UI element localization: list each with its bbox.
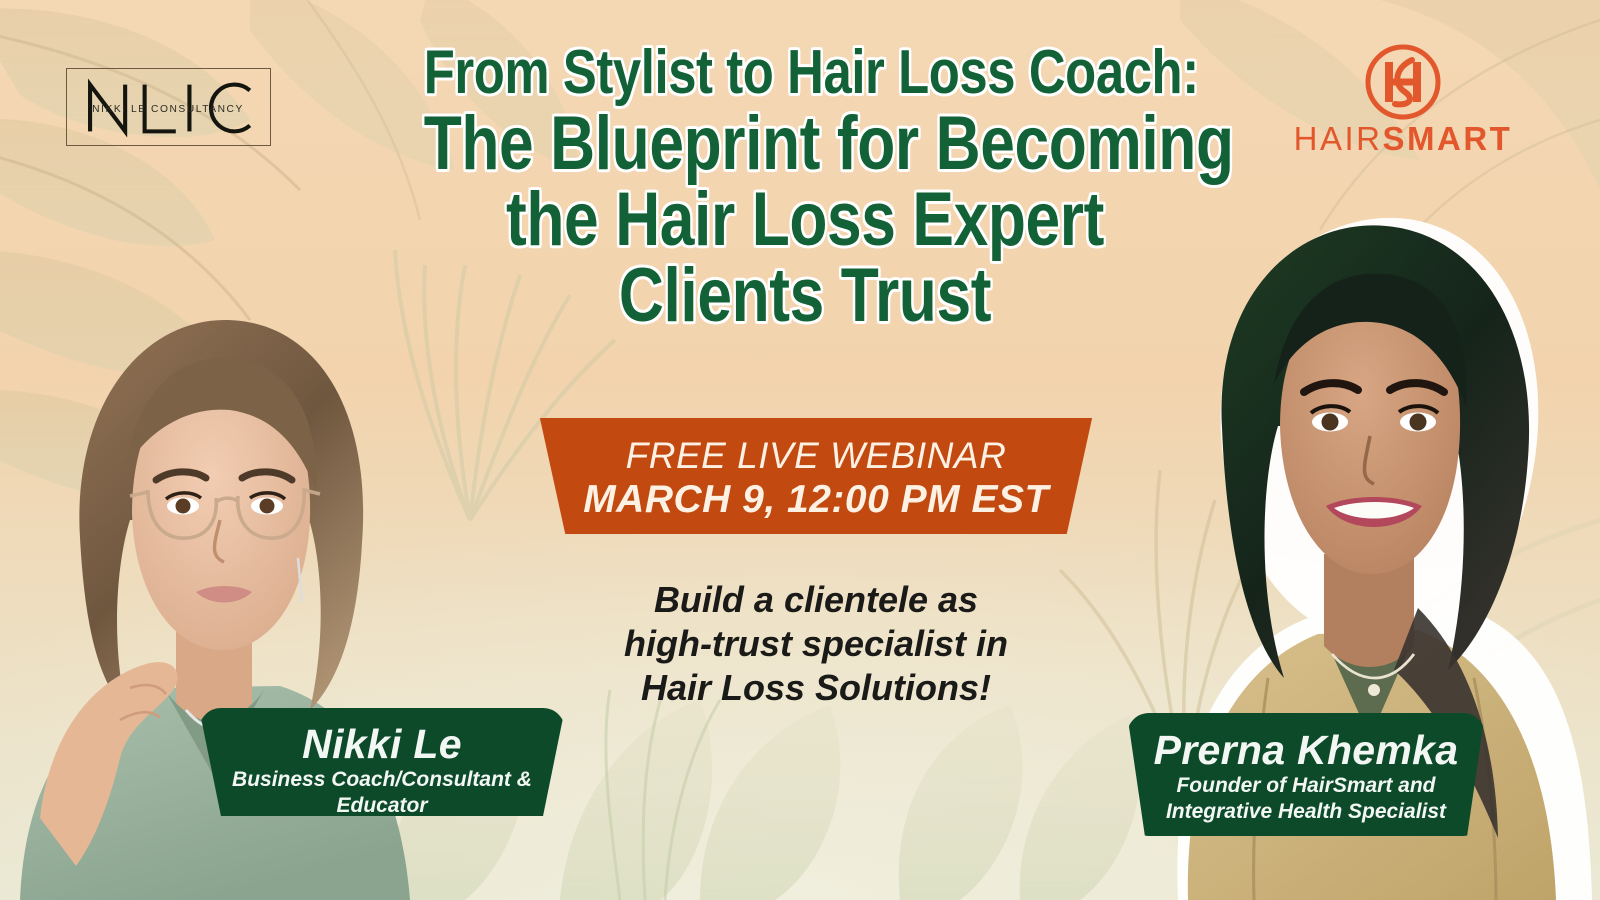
headline-line-1: The Blueprint for Becoming [424,106,1187,182]
hairsmart-logo: HAIRSMART [1278,44,1528,160]
speaker-name: Nikki Le [199,721,565,767]
banner-line-free-live-webinar: FREE LIVE WEBINAR [521,418,1111,477]
nikki-le-consultancy-logo: NIKKI LE CONSULTANCY [66,68,271,146]
plate-inner: Prerna Khemka Founder of HairSmart and I… [1127,713,1485,825]
tagline-line-3: Hair Loss Solutions! [560,666,1072,710]
tagline-line-2: high-trust specialist in [560,622,1072,666]
nlc-monogram-icon: NIKKI LE CONSULTANCY [67,69,270,145]
speaker-role-line-2: Integrative Health Specialist [1127,799,1485,825]
hairsmart-badge-icon [1365,44,1441,120]
nlc-wordmark: NIKKI LE CONSULTANCY [92,104,244,115]
headline-block: From Stylist to Hair Loss Coach: The Blu… [340,40,1270,334]
banner-text: FREE LIVE WEBINAR MARCH 9, 12:00 PM EST [521,418,1111,523]
headline-line-2: the Hair Loss Expert [424,182,1187,258]
headline-kicker: From Stylist to Hair Loss Coach: [424,40,1187,106]
webinar-poster: NIKKI LE CONSULTANCY HAIRSMART From Styl… [0,0,1600,900]
hairsmart-word-smart: SMART [1383,120,1513,157]
headline-line-3: Clients Trust [424,258,1187,334]
speaker-role-line-2: Educator [199,793,565,819]
name-plate-prerna-khemka: Prerna Khemka Founder of HairSmart and I… [1127,713,1485,836]
hairsmart-word-hair: HAIR [1294,120,1383,157]
webinar-date-banner: FREE LIVE WEBINAR MARCH 9, 12:00 PM EST [521,418,1111,534]
speaker-name: Prerna Khemka [1127,727,1485,773]
name-plate-nikki-le: Nikki Le Business Coach/Consultant & Edu… [199,708,565,816]
tagline-line-1: Build a clientele as [560,578,1072,622]
hairsmart-wordmark: HAIRSMART [1278,122,1528,155]
tagline-block: Build a clientele as high-trust speciali… [560,578,1072,710]
plate-inner: Nikki Le Business Coach/Consultant & Edu… [199,708,565,819]
speaker-role-line-1: Business Coach/Consultant & [199,767,565,793]
banner-line-date-time: MARCH 9, 12:00 PM EST [521,477,1111,523]
speaker-role-line-1: Founder of HairSmart and [1127,773,1485,799]
